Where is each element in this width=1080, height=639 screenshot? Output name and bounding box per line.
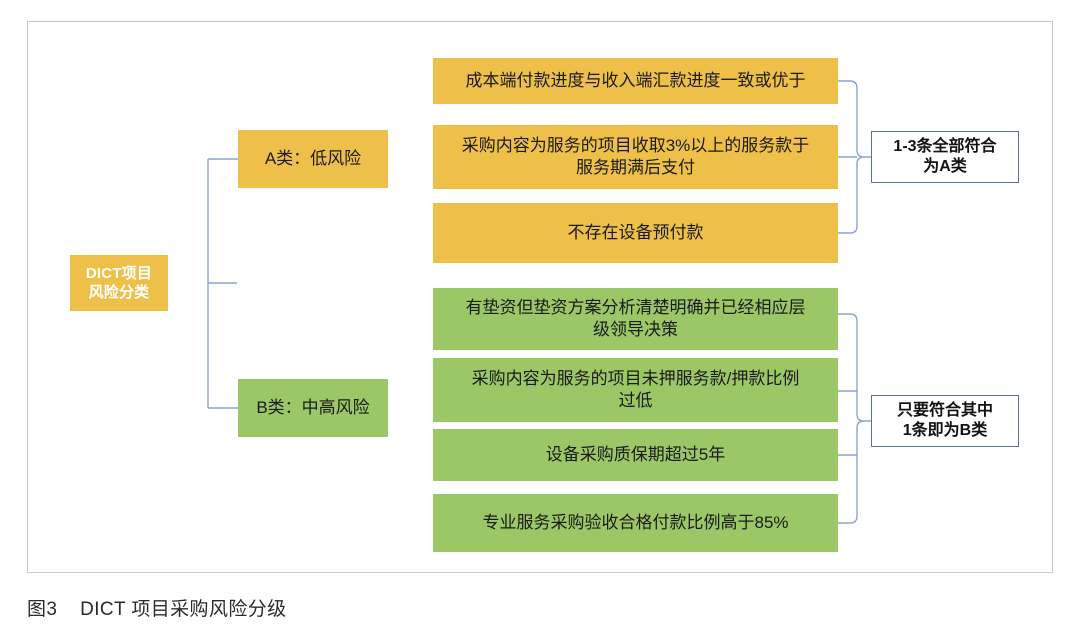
criterion-box-a3[interactable]: 不存在设备预付款 [433, 203, 838, 263]
criterion-box-a1[interactable]: 成本端付款进度与收入端汇款进度一致或优于 [433, 58, 838, 104]
root-node[interactable]: DICT项目 风险分类 [70, 255, 168, 311]
figure-caption: 图3 DICT 项目采购风险分级 [27, 594, 287, 621]
criterion-box-b2[interactable]: 采购内容为服务的项目未押服务款/押款比例 过低 [433, 358, 838, 422]
criterion-box-b3[interactable]: 设备采购质保期超过5年 [433, 429, 838, 481]
category-node-b[interactable]: B类：中高风险 [238, 379, 388, 437]
criterion-box-b1[interactable]: 有垫资但垫资方案分析清楚明确并已经相应层 级领导决策 [433, 288, 838, 350]
result-box-a[interactable]: 1-3条全部符合 为A类 [871, 131, 1019, 183]
category-node-a[interactable]: A类：低风险 [238, 130, 388, 188]
criterion-box-b4[interactable]: 专业服务采购验收合格付款比例高于85% [433, 494, 838, 552]
result-box-b[interactable]: 只要符合其中 1条即为B类 [871, 395, 1019, 447]
criterion-box-a2[interactable]: 采购内容为服务的项目收取3%以上的服务款于 服务期满后支付 [433, 125, 838, 189]
